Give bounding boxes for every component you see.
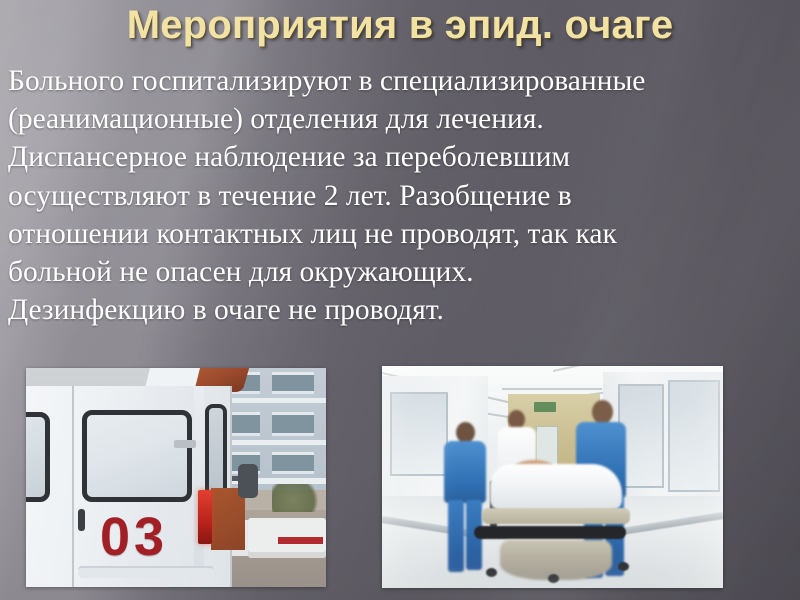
gurney-wheel: [618, 562, 629, 571]
staff-member-left: [442, 422, 490, 574]
van-roof-white-panel: [146, 368, 201, 386]
ambulance-door-latch: [174, 440, 196, 448]
body-line: больной не опасен для окружающих.: [8, 253, 776, 291]
slide-body-text: Больного госпитализируют в специализиров…: [8, 62, 776, 329]
corridor-window-left: [390, 392, 448, 476]
gurney-sheet: [490, 464, 622, 510]
ambulance-03-marking: 03: [100, 510, 168, 564]
distant-ambulance: [248, 518, 326, 558]
body-line: Больного госпитализируют в специализиров…: [8, 62, 776, 100]
ambulance-taillight: [198, 490, 212, 544]
ambulance-side-window: [205, 404, 227, 500]
ambulance-door-handle: [78, 509, 85, 531]
gurney-wheel: [486, 568, 497, 577]
presentation-slide: Мероприятия в эпид. очаге Больного госпи…: [0, 0, 800, 600]
ambulance-door-seam: [72, 386, 74, 587]
slide-title: Мероприятия в эпид. очаге: [0, 1, 800, 49]
body-line: Дезинфекцию в очаге не проводят.: [8, 291, 776, 329]
gurney-wheel: [548, 574, 559, 583]
body-line: (реанимационные) отделения для лечения.: [8, 100, 776, 138]
gurney-push-bar: [474, 526, 626, 539]
ambulance-rear-door-window: [82, 410, 192, 502]
hospital-corridor-photo: [382, 366, 723, 588]
corridor-window-right-2: [668, 380, 720, 492]
body-line: Диспансерное наблюдение за переболевшим: [8, 138, 776, 176]
ambulance-left-door-window: [26, 412, 50, 502]
ambulance-bumper: [78, 566, 214, 578]
body-line: отношении контактных лиц не проводят, та…: [8, 215, 776, 253]
roadside-tree: [272, 484, 324, 512]
ambulance-body-pillar: [194, 386, 204, 576]
body-line: осуществляют в течение 2 лет. Разобщение…: [8, 177, 776, 215]
ambulance-side-mirror: [238, 464, 258, 498]
gurney-frame: [482, 508, 630, 524]
ambulance-photo: 03: [26, 368, 326, 587]
